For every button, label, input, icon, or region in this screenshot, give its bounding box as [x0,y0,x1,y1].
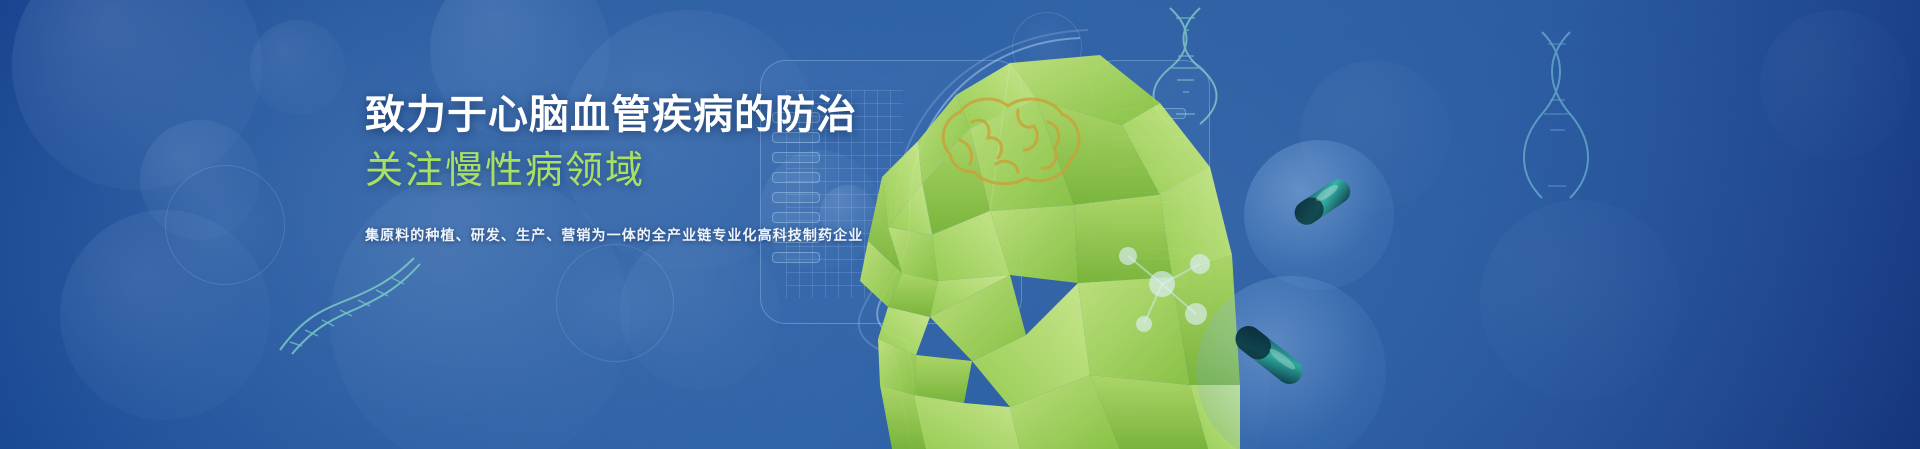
page-tagline: 集原料的种植、研发、生产、营销为一体的全产业链专业化高科技制药企业 [365,225,1065,245]
bokeh-circle [250,20,345,115]
molecule-icon [1108,230,1218,340]
bokeh-circle [12,0,262,190]
page-title: 致力于心脑血管疾病的防治 [365,92,1065,139]
hud-bar [772,252,820,263]
capsule-icon [1214,300,1324,410]
bokeh-circle [140,120,260,240]
page-subtitle: 关注慢性病领域 [365,149,1065,195]
hero-copy: 致力于心脑血管疾病的防治 关注慢性病领域 集原料的种植、研发、生产、营销为一体的… [365,92,1065,245]
capsule-icon [1278,168,1368,238]
bokeh-circle [60,210,270,420]
bokeh-circle [1760,10,1910,160]
bokeh-circle [1480,200,1680,400]
dna-helix-icon [1520,30,1590,200]
dna-helix-icon [272,250,422,360]
bokeh-ring [165,165,285,285]
bokeh-circle [620,230,780,390]
bokeh-ring [556,244,674,362]
hero-banner: 致力于心脑血管疾病的防治 关注慢性病领域 集原料的种植、研发、生产、营销为一体的… [0,0,1920,449]
